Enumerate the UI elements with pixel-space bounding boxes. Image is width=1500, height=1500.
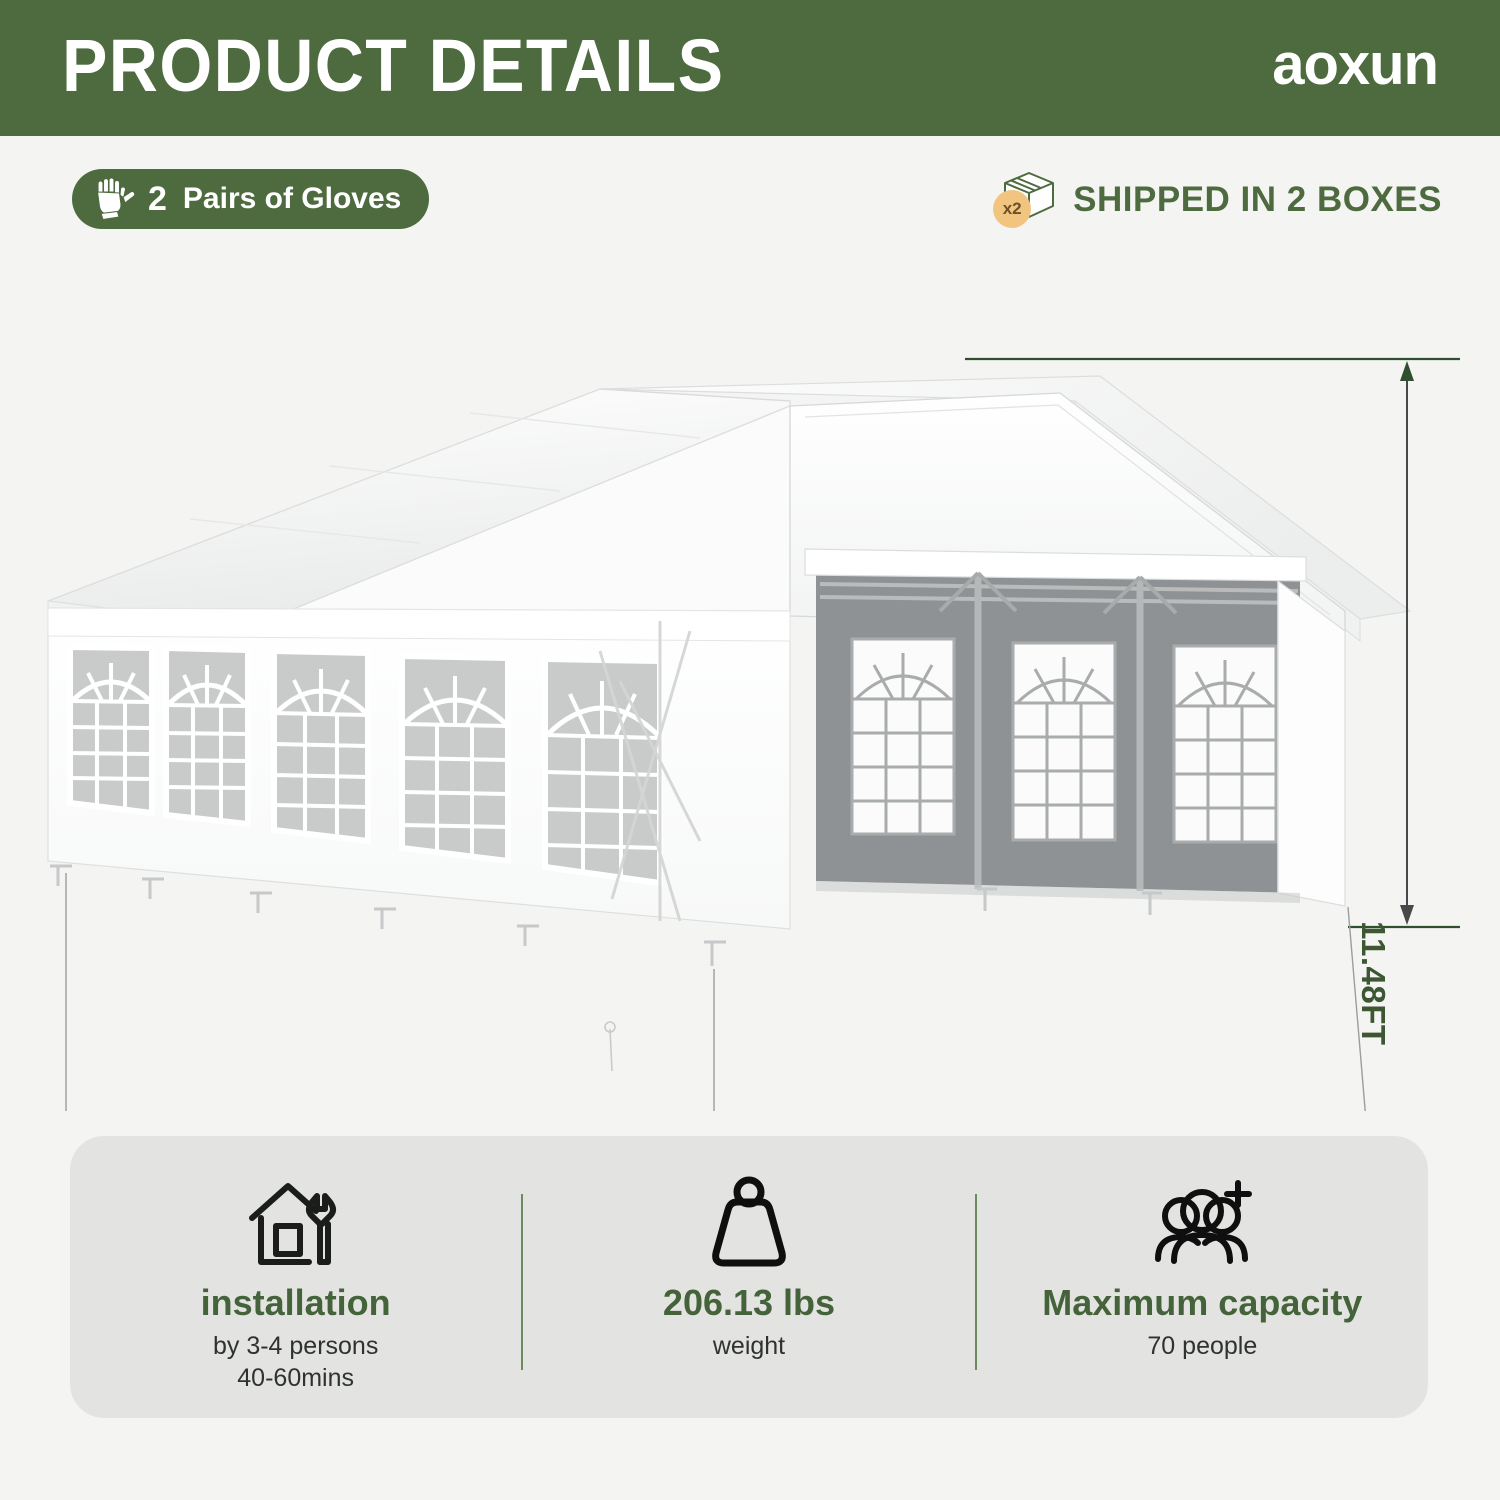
feature-installation: installation by 3-4 persons 40-60mins xyxy=(70,1136,521,1418)
feature-panel: installation by 3-4 persons 40-60mins 20… xyxy=(70,1136,1428,1418)
feature-capacity: Maximum capacity 70 people xyxy=(977,1136,1428,1418)
feature-title: Maximum capacity xyxy=(1042,1284,1362,1322)
people-plus-icon xyxy=(1146,1174,1258,1272)
feature-subtitle: by 3-4 persons 40-60mins xyxy=(213,1330,378,1394)
feature-title: 206.13 lbs xyxy=(663,1284,835,1322)
feature-title: installation xyxy=(201,1284,391,1322)
weight-icon xyxy=(706,1174,792,1272)
box-icon-wrapper: x2 xyxy=(993,170,1057,228)
tent-illustration xyxy=(0,281,1500,1111)
page-title: PRODUCT DETAILS xyxy=(62,29,724,103)
badge-row: 2 Pairs of Gloves x2 SHIPPED IN 2 BOXES xyxy=(0,136,1500,281)
shipping-badge: x2 SHIPPED IN 2 BOXES xyxy=(993,169,1442,229)
feature-subtitle: 70 people xyxy=(1147,1330,1257,1362)
gloves-badge: 2 Pairs of Gloves xyxy=(72,169,429,229)
gloves-count: 2 xyxy=(148,182,167,216)
page-header: PRODUCT DETAILS aoxun xyxy=(0,0,1500,136)
dimension-label-height: 11.48FT xyxy=(1354,921,1392,1046)
feature-weight: 206.13 lbs weight xyxy=(523,1136,974,1418)
shipping-label: SHIPPED IN 2 BOXES xyxy=(1073,182,1442,217)
product-image-stage: 32FT 16FT 11.48FT xyxy=(0,281,1500,1111)
house-wrench-icon xyxy=(244,1174,348,1272)
gloves-label: Pairs of Gloves xyxy=(183,184,401,214)
feature-subtitle: weight xyxy=(713,1330,785,1362)
x2-multiplier-badge: x2 xyxy=(993,190,1031,228)
brand-logo: aoxun xyxy=(1272,36,1438,94)
gloves-icon xyxy=(92,178,138,220)
